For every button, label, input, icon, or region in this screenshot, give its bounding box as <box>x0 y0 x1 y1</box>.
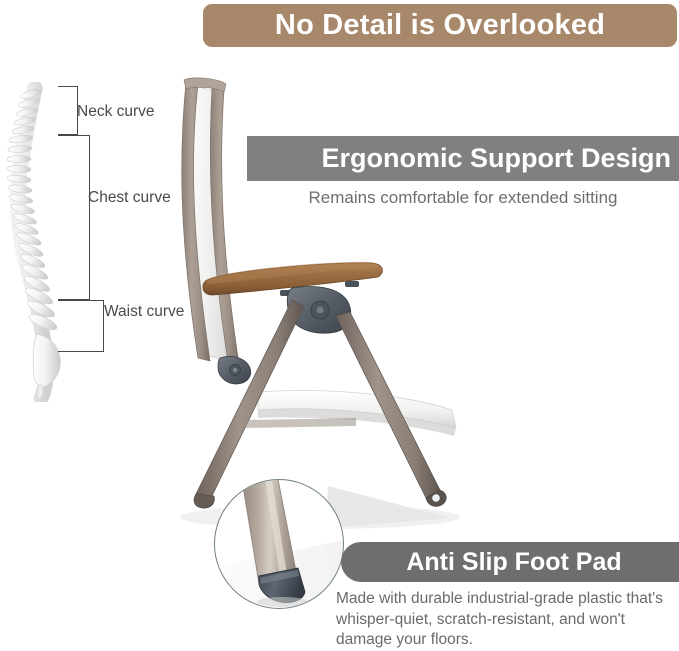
ergonomic-support-subtitle: Remains comfortable for extended sitting <box>247 188 679 208</box>
ergonomic-support-banner: Ergonomic Support Design <box>247 136 679 181</box>
anti-slip-foot-pad-description: Made with durable industrial-grade plast… <box>336 589 676 651</box>
infographic-canvas: Neck curve Chest curve Waist curve <box>0 0 679 651</box>
ergonomic-support-heading: Ergonomic Support Design <box>321 143 671 174</box>
title-banner-text: No Detail is Overlooked <box>275 9 605 42</box>
anti-slip-foot-pad-banner: Anti Slip Foot Pad <box>341 542 679 582</box>
bracket-chest-curve <box>58 135 90 300</box>
bracket-neck-curve <box>58 86 78 135</box>
title-banner: No Detail is Overlooked <box>203 4 677 47</box>
anti-slip-foot-pad-heading: Anti Slip Foot Pad <box>406 548 621 577</box>
bracket-waist-curve <box>58 300 104 352</box>
folding-chair-side-view-icon <box>140 62 470 532</box>
magnified-foot-pad-icon <box>214 479 344 609</box>
magnifier-lens <box>214 479 344 609</box>
